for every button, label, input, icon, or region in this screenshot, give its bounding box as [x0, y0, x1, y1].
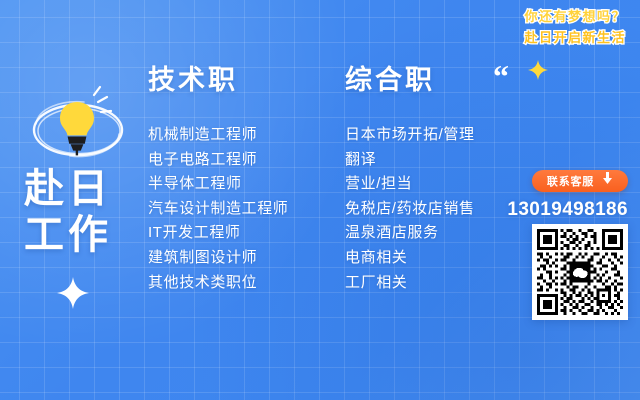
list-item: 翻译 [345, 148, 475, 173]
list-item: 工厂相关 [345, 271, 475, 296]
list-item: 建筑制图设计师 [148, 246, 288, 271]
column-technical: 技术职 机械制造工程师 电子电路工程师 半导体工程师 汽车设计制造工程师 IT开… [148, 58, 288, 295]
slogan-block: 你还有梦想吗？ 赴日开启新生活 [524, 6, 626, 48]
phone-number: 13019498186 [507, 199, 628, 221]
list-item: 日本市场开拓/管理 [345, 123, 475, 148]
brand-title: 赴日 工作 [24, 166, 112, 258]
brand-title-line2: 工作 [24, 212, 112, 258]
list-item: 其他技术类职位 [148, 271, 288, 296]
list-item: 免税店/药妆店销售 [345, 197, 475, 222]
qr-code-icon[interactable] [532, 224, 628, 320]
lightbulb-badge [22, 78, 134, 176]
list-item: 半导体工程师 [148, 172, 288, 197]
list-item: 电商相关 [345, 246, 475, 271]
slogan-line-2: 赴日开启新生活 [524, 27, 626, 48]
job-list-technical: 机械制造工程师 电子电路工程师 半导体工程师 汽车设计制造工程师 IT开发工程师… [148, 123, 288, 295]
quote-mark-icon: “ [493, 60, 509, 92]
list-item: 电子电路工程师 [148, 148, 288, 173]
job-list-general: 日本市场开拓/管理 翻译 营业/担当 免税店/药妆店销售 温泉酒店服务 电商相关… [345, 123, 475, 295]
column-heading-technical: 技术职 [148, 58, 288, 97]
brand-title-line1: 赴日 [24, 166, 112, 212]
list-item: 机械制造工程师 [148, 123, 288, 148]
sparkle-star-icon [528, 60, 548, 80]
column-heading-general: 综合职 [345, 58, 475, 97]
column-general: 综合职 日本市场开拓/管理 翻译 营业/担当 免税店/药妆店销售 温泉酒店服务 … [345, 58, 475, 295]
slogan-line-1: 你还有梦想吗？ [524, 6, 626, 27]
contact-support-button[interactable]: 联系客服 [532, 170, 628, 192]
contact-support-label: 联系客服 [547, 173, 594, 189]
four-point-star-icon [56, 276, 90, 310]
poster-canvas: JOIN US 赴日 [0, 0, 640, 400]
lightbulb-icon [60, 87, 111, 155]
arrow-down-icon [602, 172, 613, 190]
list-item: 温泉酒店服务 [345, 221, 475, 246]
list-item: 汽车设计制造工程师 [148, 197, 288, 222]
list-item: IT开发工程师 [148, 221, 288, 246]
list-item: 营业/担当 [345, 172, 475, 197]
